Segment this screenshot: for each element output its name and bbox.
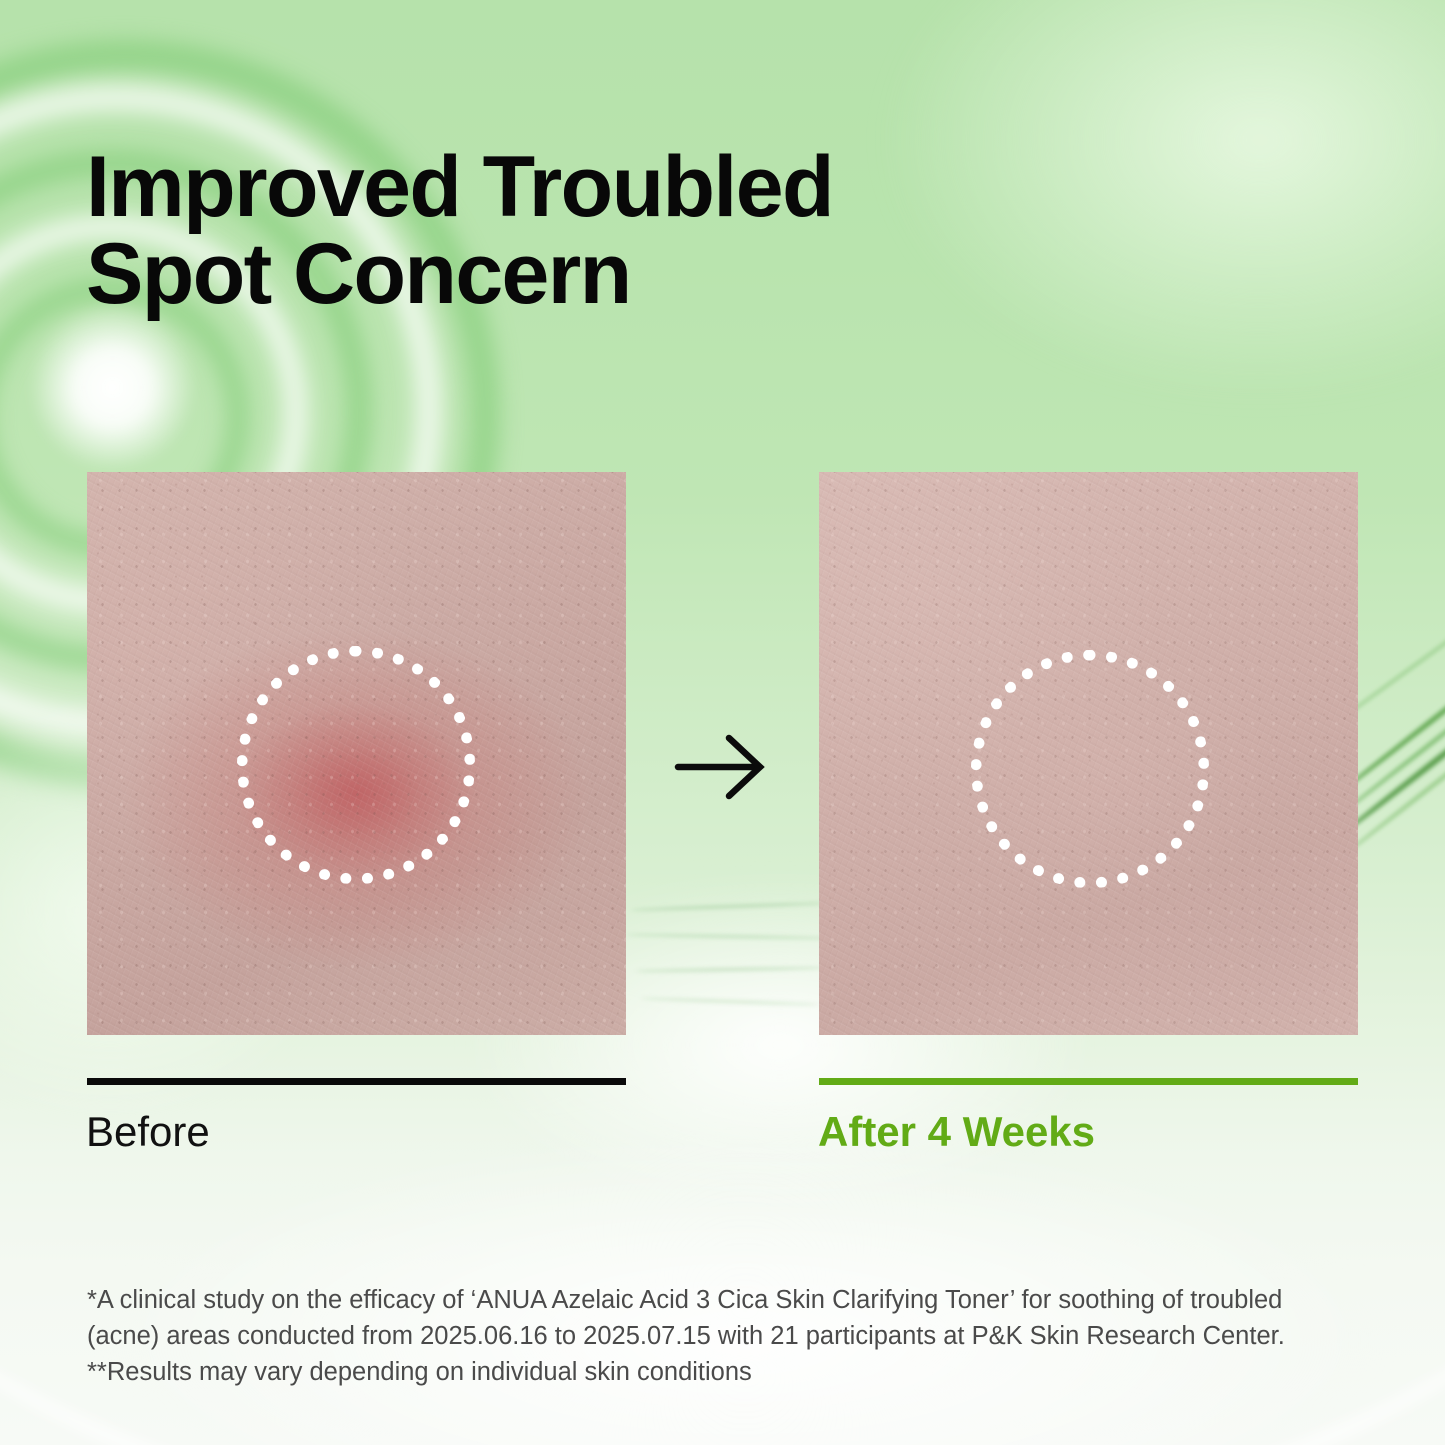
dotted-circle-marker-after bbox=[971, 650, 1209, 888]
before-image bbox=[87, 472, 626, 1035]
after-image bbox=[819, 472, 1358, 1035]
before-rule bbox=[87, 1078, 626, 1085]
page-title: Improved Troubled Spot Concern bbox=[86, 144, 986, 319]
footnote-line-1: *A clinical study on the efficacy of ‘AN… bbox=[87, 1282, 1367, 1318]
after-rule bbox=[819, 1078, 1358, 1085]
footnote: *A clinical study on the efficacy of ‘AN… bbox=[87, 1282, 1367, 1391]
promo-image: Improved Troubled Spot Concern Before Af… bbox=[0, 0, 1445, 1445]
right-arrow-icon bbox=[674, 722, 768, 812]
footnote-line-3: **Results may vary depending on individu… bbox=[87, 1354, 1367, 1390]
footnote-line-2: (acne) areas conducted from 2025.06.16 t… bbox=[87, 1318, 1367, 1354]
before-caption: Before bbox=[86, 1107, 210, 1157]
dotted-circle-marker-before bbox=[237, 646, 475, 884]
after-caption: After 4 Weeks bbox=[818, 1107, 1095, 1157]
